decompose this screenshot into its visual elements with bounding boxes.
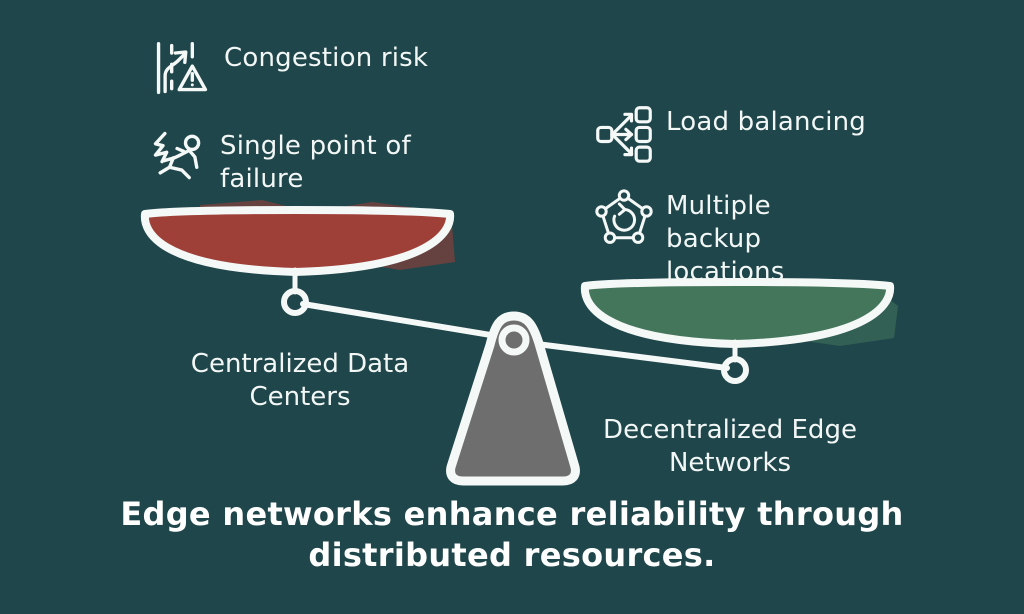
load-distribution-arrows-icon (594, 104, 654, 164)
feature-congestion-risk: Congestion risk (152, 38, 482, 98)
person-struck-by-lightning-icon (148, 126, 208, 186)
balance-fulcrum (451, 316, 576, 481)
feature-label: Load balancing (666, 104, 866, 139)
feature-label: Congestion risk (224, 38, 428, 75)
feature-single-point-of-failure: Single point of failure (148, 126, 478, 196)
pentagon-network-restore-icon (594, 188, 654, 248)
feature-label: Multiple backup locations (666, 188, 785, 288)
feature-load-balancing: Load balancing (594, 104, 944, 164)
bottom-caption: Edge networks enhance reliability throug… (0, 494, 1024, 576)
right-pan (585, 282, 890, 381)
left-pan (145, 210, 450, 313)
right-pan-label: Decentralized Edge Networks (580, 414, 880, 481)
road-congestion-warning-icon (152, 38, 212, 98)
left-pan-label: Centralized Data Centers (150, 348, 450, 415)
infographic-canvas: Congestion risk Single point of failure (0, 0, 1024, 614)
feature-multiple-backup-locations: Multiple backup locations (594, 188, 934, 288)
feature-label: Single point of failure (220, 126, 411, 196)
